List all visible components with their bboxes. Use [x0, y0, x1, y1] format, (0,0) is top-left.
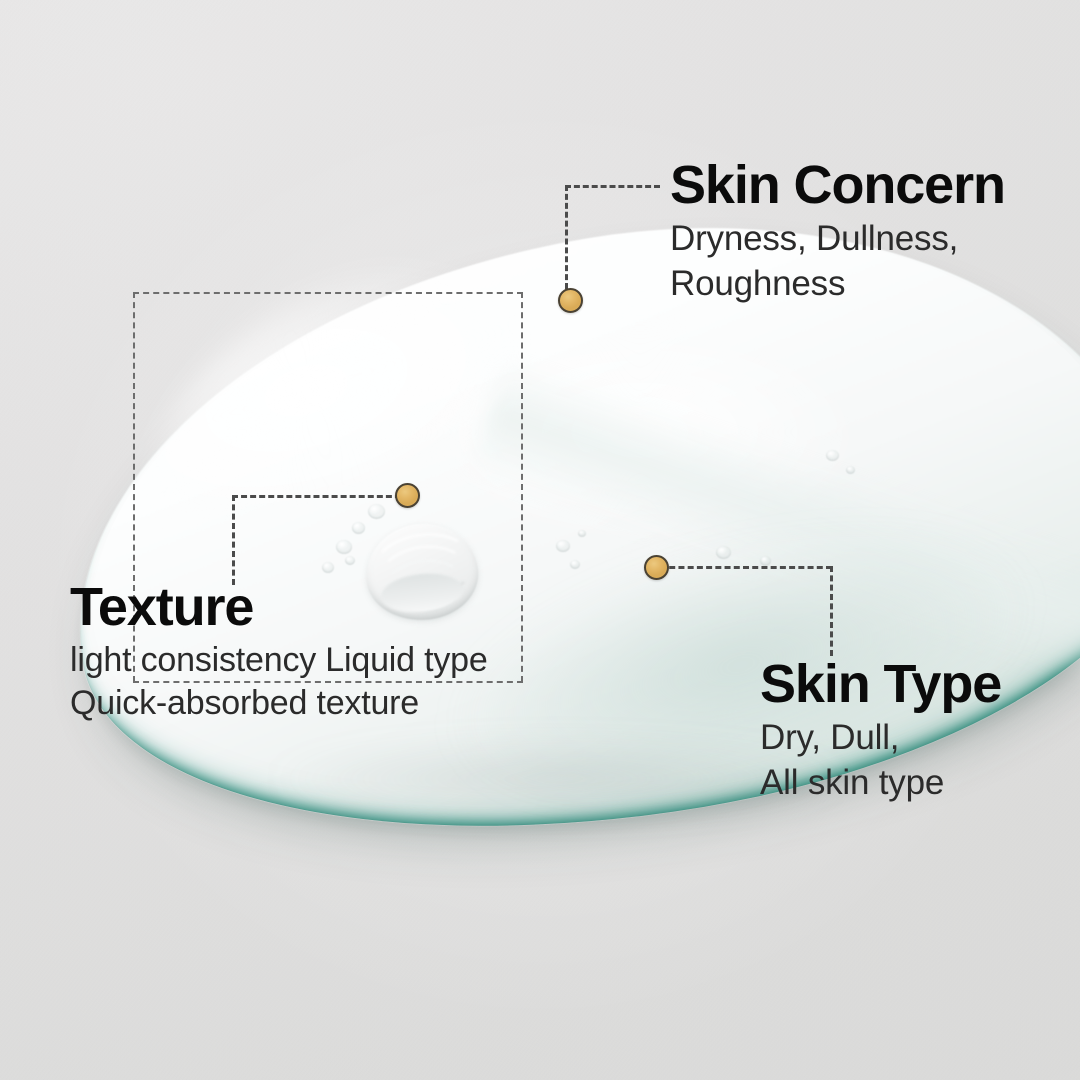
callout-heading-skin-concern: Skin Concern	[670, 158, 1005, 213]
cream-bubble	[352, 522, 365, 534]
callout-body-texture: light consistency Liquid type Quick-abso…	[70, 639, 488, 725]
callout-texture: Texture light consistency Liquid type Qu…	[70, 580, 488, 725]
callout-skin-concern: Skin Concern Dryness, Dullness, Roughnes…	[670, 158, 1005, 306]
cream-bubble	[336, 540, 352, 554]
marker-dot-texture[interactable]	[395, 483, 420, 508]
callout-body-skin-concern: Dryness, Dullness, Roughness	[670, 217, 1005, 306]
cream-bubble	[570, 560, 580, 569]
callout-heading-skin-type: Skin Type	[760, 657, 1001, 712]
cream-bubble	[322, 562, 334, 573]
callout-skin-type: Skin Type Dry, Dull, All skin type	[760, 657, 1001, 805]
callout-body-skin-type: Dry, Dull, All skin type	[760, 716, 1001, 805]
cream-bubble	[556, 540, 570, 552]
product-feature-callout-image: Skin Concern Dryness, Dullness, Roughnes…	[0, 0, 1080, 1080]
cream-bubble	[846, 466, 855, 474]
marker-dot-skin-type[interactable]	[644, 555, 669, 580]
cream-bubble	[760, 556, 771, 566]
callout-heading-texture: Texture	[70, 580, 488, 635]
cream-bubble	[345, 556, 355, 565]
cream-bubble	[716, 546, 731, 559]
cream-bubble	[368, 504, 385, 519]
cream-bubble	[578, 530, 586, 537]
cream-bubble	[826, 450, 839, 461]
marker-dot-skin-concern[interactable]	[558, 288, 583, 313]
